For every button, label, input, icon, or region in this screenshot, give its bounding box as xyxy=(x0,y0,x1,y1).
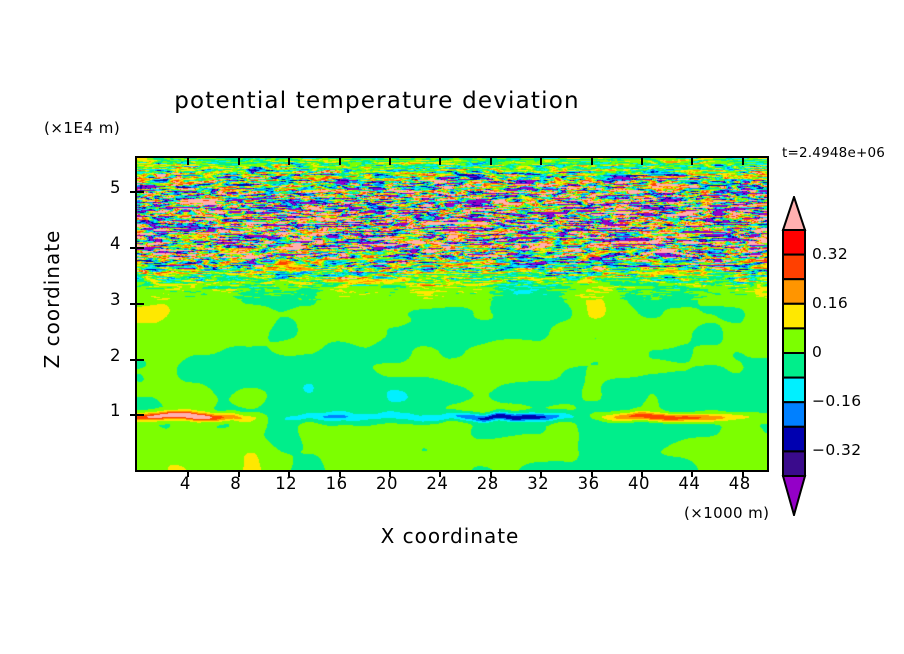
x-tick-inner xyxy=(641,158,643,165)
x-tick-label: 48 xyxy=(720,474,760,493)
y-tick-label: 5 xyxy=(93,178,121,197)
x-tick-label: 28 xyxy=(468,474,508,493)
colorbar-tick-label: 0.32 xyxy=(812,245,848,263)
x-tick-label: 32 xyxy=(518,474,558,493)
y-tick xyxy=(130,191,137,193)
y-tick-inner xyxy=(137,303,144,305)
x-tick-label: 40 xyxy=(619,474,659,493)
colorbar-tick-label: −0.32 xyxy=(812,441,862,459)
x-tick-inner xyxy=(490,158,492,165)
x-tick-inner xyxy=(742,158,744,165)
x-tick-inner xyxy=(540,158,542,165)
x-tick-inner xyxy=(389,158,391,165)
x-tick-label: 24 xyxy=(417,474,457,493)
x-tick-inner xyxy=(591,158,593,165)
x-tick-label: 36 xyxy=(569,474,609,493)
x-tick-label: 12 xyxy=(266,474,306,493)
y-tick-label: 2 xyxy=(93,346,121,365)
x-tick-inner xyxy=(238,158,240,165)
y-tick-inner xyxy=(137,414,144,416)
x-tick-label: 44 xyxy=(669,474,709,493)
x-tick-inner xyxy=(339,158,341,165)
y-tick-label: 3 xyxy=(93,290,121,309)
y-tick xyxy=(130,303,137,305)
x-tick-inner xyxy=(187,158,189,165)
page-title: potential temperature deviation xyxy=(0,88,754,114)
y-axis-unit-label: (×1E4 m) xyxy=(44,119,120,137)
x-tick-label: 4 xyxy=(165,474,205,493)
y-axis-title: Z coordinate xyxy=(40,199,64,399)
x-tick-label: 16 xyxy=(317,474,357,493)
x-tick-inner xyxy=(691,158,693,165)
time-annotation: t=2.4948e+06 xyxy=(782,145,885,161)
y-tick-label: 4 xyxy=(93,234,121,253)
x-tick-label: 8 xyxy=(216,474,256,493)
x-tick-inner xyxy=(439,158,441,165)
colorbar-tick-label: −0.16 xyxy=(812,392,862,410)
colorbar[interactable] xyxy=(781,196,807,516)
contour-plot-area[interactable] xyxy=(135,156,769,472)
contour-field xyxy=(137,158,767,470)
y-tick xyxy=(130,359,137,361)
x-axis-unit-label: (×1000 m) xyxy=(684,504,769,522)
y-tick-inner xyxy=(137,191,144,193)
x-axis-title: X coordinate xyxy=(135,524,765,548)
x-tick-label: 20 xyxy=(367,474,407,493)
y-tick-label: 1 xyxy=(93,401,121,420)
y-tick-inner xyxy=(137,359,144,361)
y-tick-inner xyxy=(137,247,144,249)
colorbar-tick-label: 0 xyxy=(812,343,822,361)
y-tick xyxy=(130,247,137,249)
x-tick-inner xyxy=(288,158,290,165)
colorbar-tick-label: 0.16 xyxy=(812,294,848,312)
y-tick xyxy=(130,414,137,416)
